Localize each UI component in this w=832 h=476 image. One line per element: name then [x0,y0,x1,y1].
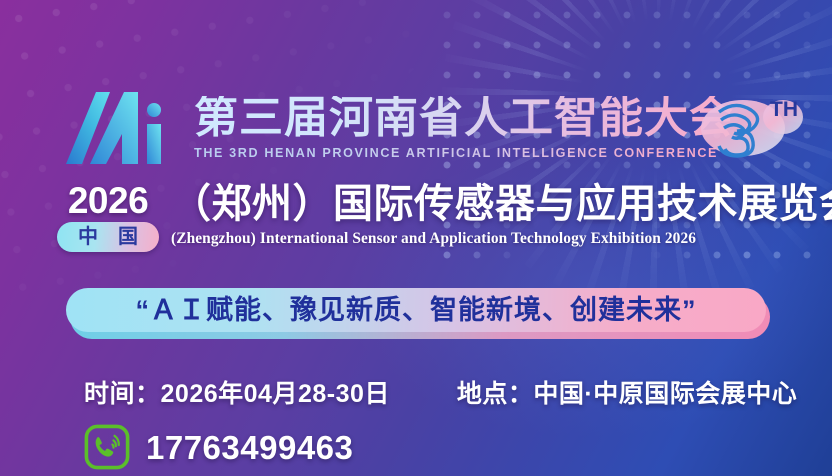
event-info-row: 时间：2026年04月28-30日 地点：中国·中原国际会展中心 [0,375,832,409]
exhibition-title-en: (Zhengzhou) International Sensor and App… [171,230,832,248]
badge-suffix-text: TH [770,98,798,121]
event-place-value: 中国·中原国际会展中心 [533,380,797,408]
conference-title-cn: 第三届河南省人工智能大会 [194,96,734,141]
slogan-text: “ＡＩ赋能、豫见新质、智能新境、创建未来” [136,297,697,324]
exhibition-year: 2026 [57,182,159,219]
event-date: 时间：2026年04月28-30日 [84,374,390,410]
slogan-pill: “ＡＩ赋能、豫见新质、智能新境、创建未来” [66,288,766,332]
event-date-value: 2026年04月28-30日 [161,380,390,408]
year-country-column: 2026 中 国 [57,182,159,252]
phone-number[interactable]: 17763499463 [146,431,353,464]
country-badge-char-1: 中 [78,227,98,247]
ai-monogram-logo [62,88,170,168]
phone-call-icon [84,424,130,470]
third-edition-badge: TH [697,84,807,168]
event-place-label: 地点： [457,380,534,408]
exhibition-text-block: （郑州）国际传感器与应用技术展览会 (Zhengzhou) Internatio… [171,182,832,248]
event-promo-banner: 第三届河南省人工智能大会 THE 3RD HENAN PROVINCE ARTI… [0,0,832,476]
conference-text-block: 第三届河南省人工智能大会 THE 3RD HENAN PROVINCE ARTI… [194,96,734,160]
slogan-banner: “ＡＩ赋能、豫见新质、智能新境、创建未来” [66,288,766,334]
exhibition-title-cn: （郑州）国际传感器与应用技术展览会 [171,182,832,225]
country-badge-char-2: 国 [118,227,138,247]
event-place: 地点：中国·中原国际会展中心 [457,374,797,410]
event-date-label: 时间： [84,380,161,408]
country-badge: 中 国 [57,222,159,252]
contact-phone-row[interactable]: 17763499463 [84,424,353,470]
exhibition-title-row: 2026 中 国 （郑州）国际传感器与应用技术展览会 (Zhengzhou) I… [0,182,832,244]
conference-title-en: THE 3RD HENAN PROVINCE ARTIFICIAL INTELL… [194,146,734,160]
